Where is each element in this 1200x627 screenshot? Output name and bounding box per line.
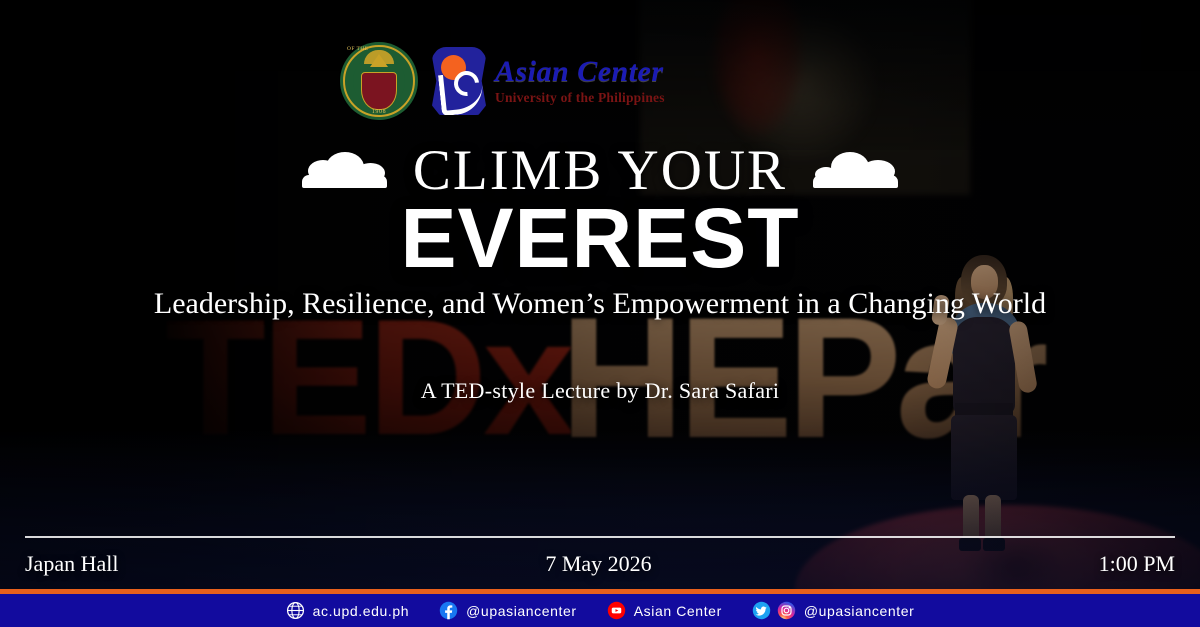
- social-footer-bar: ac.upd.edu.ph @upasiancenter Asian Cente…: [0, 594, 1200, 627]
- youtube-icon: [607, 601, 626, 620]
- seal-triangle: [370, 54, 388, 67]
- poster-byline: A TED-style Lecture by Dr. Sara Safari: [150, 378, 1050, 404]
- seal-top-text: OF THE: [347, 46, 368, 52]
- asian-center-mark-icon: [432, 47, 486, 115]
- cloud-left-icon: [302, 154, 387, 188]
- facebook-label: @upasiancenter: [466, 603, 577, 619]
- seal-year-text: 1908: [372, 109, 386, 115]
- footer-item-social-handles[interactable]: @upasiancenter: [752, 601, 915, 620]
- asian-center-wordmark: Asian Center University of the Philippin…: [495, 57, 665, 105]
- youtube-label: Asian Center: [634, 603, 722, 619]
- asian-center-logo: Asian Center University of the Philippin…: [432, 47, 665, 115]
- event-venue: Japan Hall: [25, 551, 118, 577]
- asian-center-subtitle: University of the Philippines: [495, 91, 665, 105]
- seal-shield: [361, 72, 397, 110]
- instagram-icon: [777, 601, 796, 620]
- twitter-instagram-icon: [752, 601, 796, 620]
- headline-line-2: EVEREST: [0, 196, 1200, 280]
- poster-subtitle: Leadership, Resilience, and Women’s Empo…: [150, 283, 1050, 326]
- cloud-right-icon: [813, 154, 898, 188]
- website-label: ac.upd.edu.ph: [313, 603, 410, 619]
- logo-lockup: OF THE 1908 Asian Center University of t…: [340, 42, 665, 120]
- footer-item-website[interactable]: ac.upd.edu.ph: [286, 601, 410, 620]
- event-poster: TEDx HEPar OF: [0, 0, 1200, 627]
- facebook-icon: [439, 601, 458, 620]
- event-details-bar: Japan Hall 7 May 2026 1:00 PM: [25, 546, 1175, 582]
- asian-center-name: Asian Center: [495, 57, 665, 87]
- up-seal-icon: OF THE 1908: [340, 42, 418, 120]
- twitter-icon: [752, 601, 771, 620]
- globe-icon: [286, 601, 305, 620]
- footer-item-youtube[interactable]: Asian Center: [607, 601, 722, 620]
- social-handle-label: @upasiancenter: [804, 603, 915, 619]
- event-date: 7 May 2026: [118, 551, 1098, 577]
- event-time: 1:00 PM: [1099, 551, 1175, 577]
- details-divider: [25, 536, 1175, 538]
- footer-item-facebook[interactable]: @upasiancenter: [439, 601, 577, 620]
